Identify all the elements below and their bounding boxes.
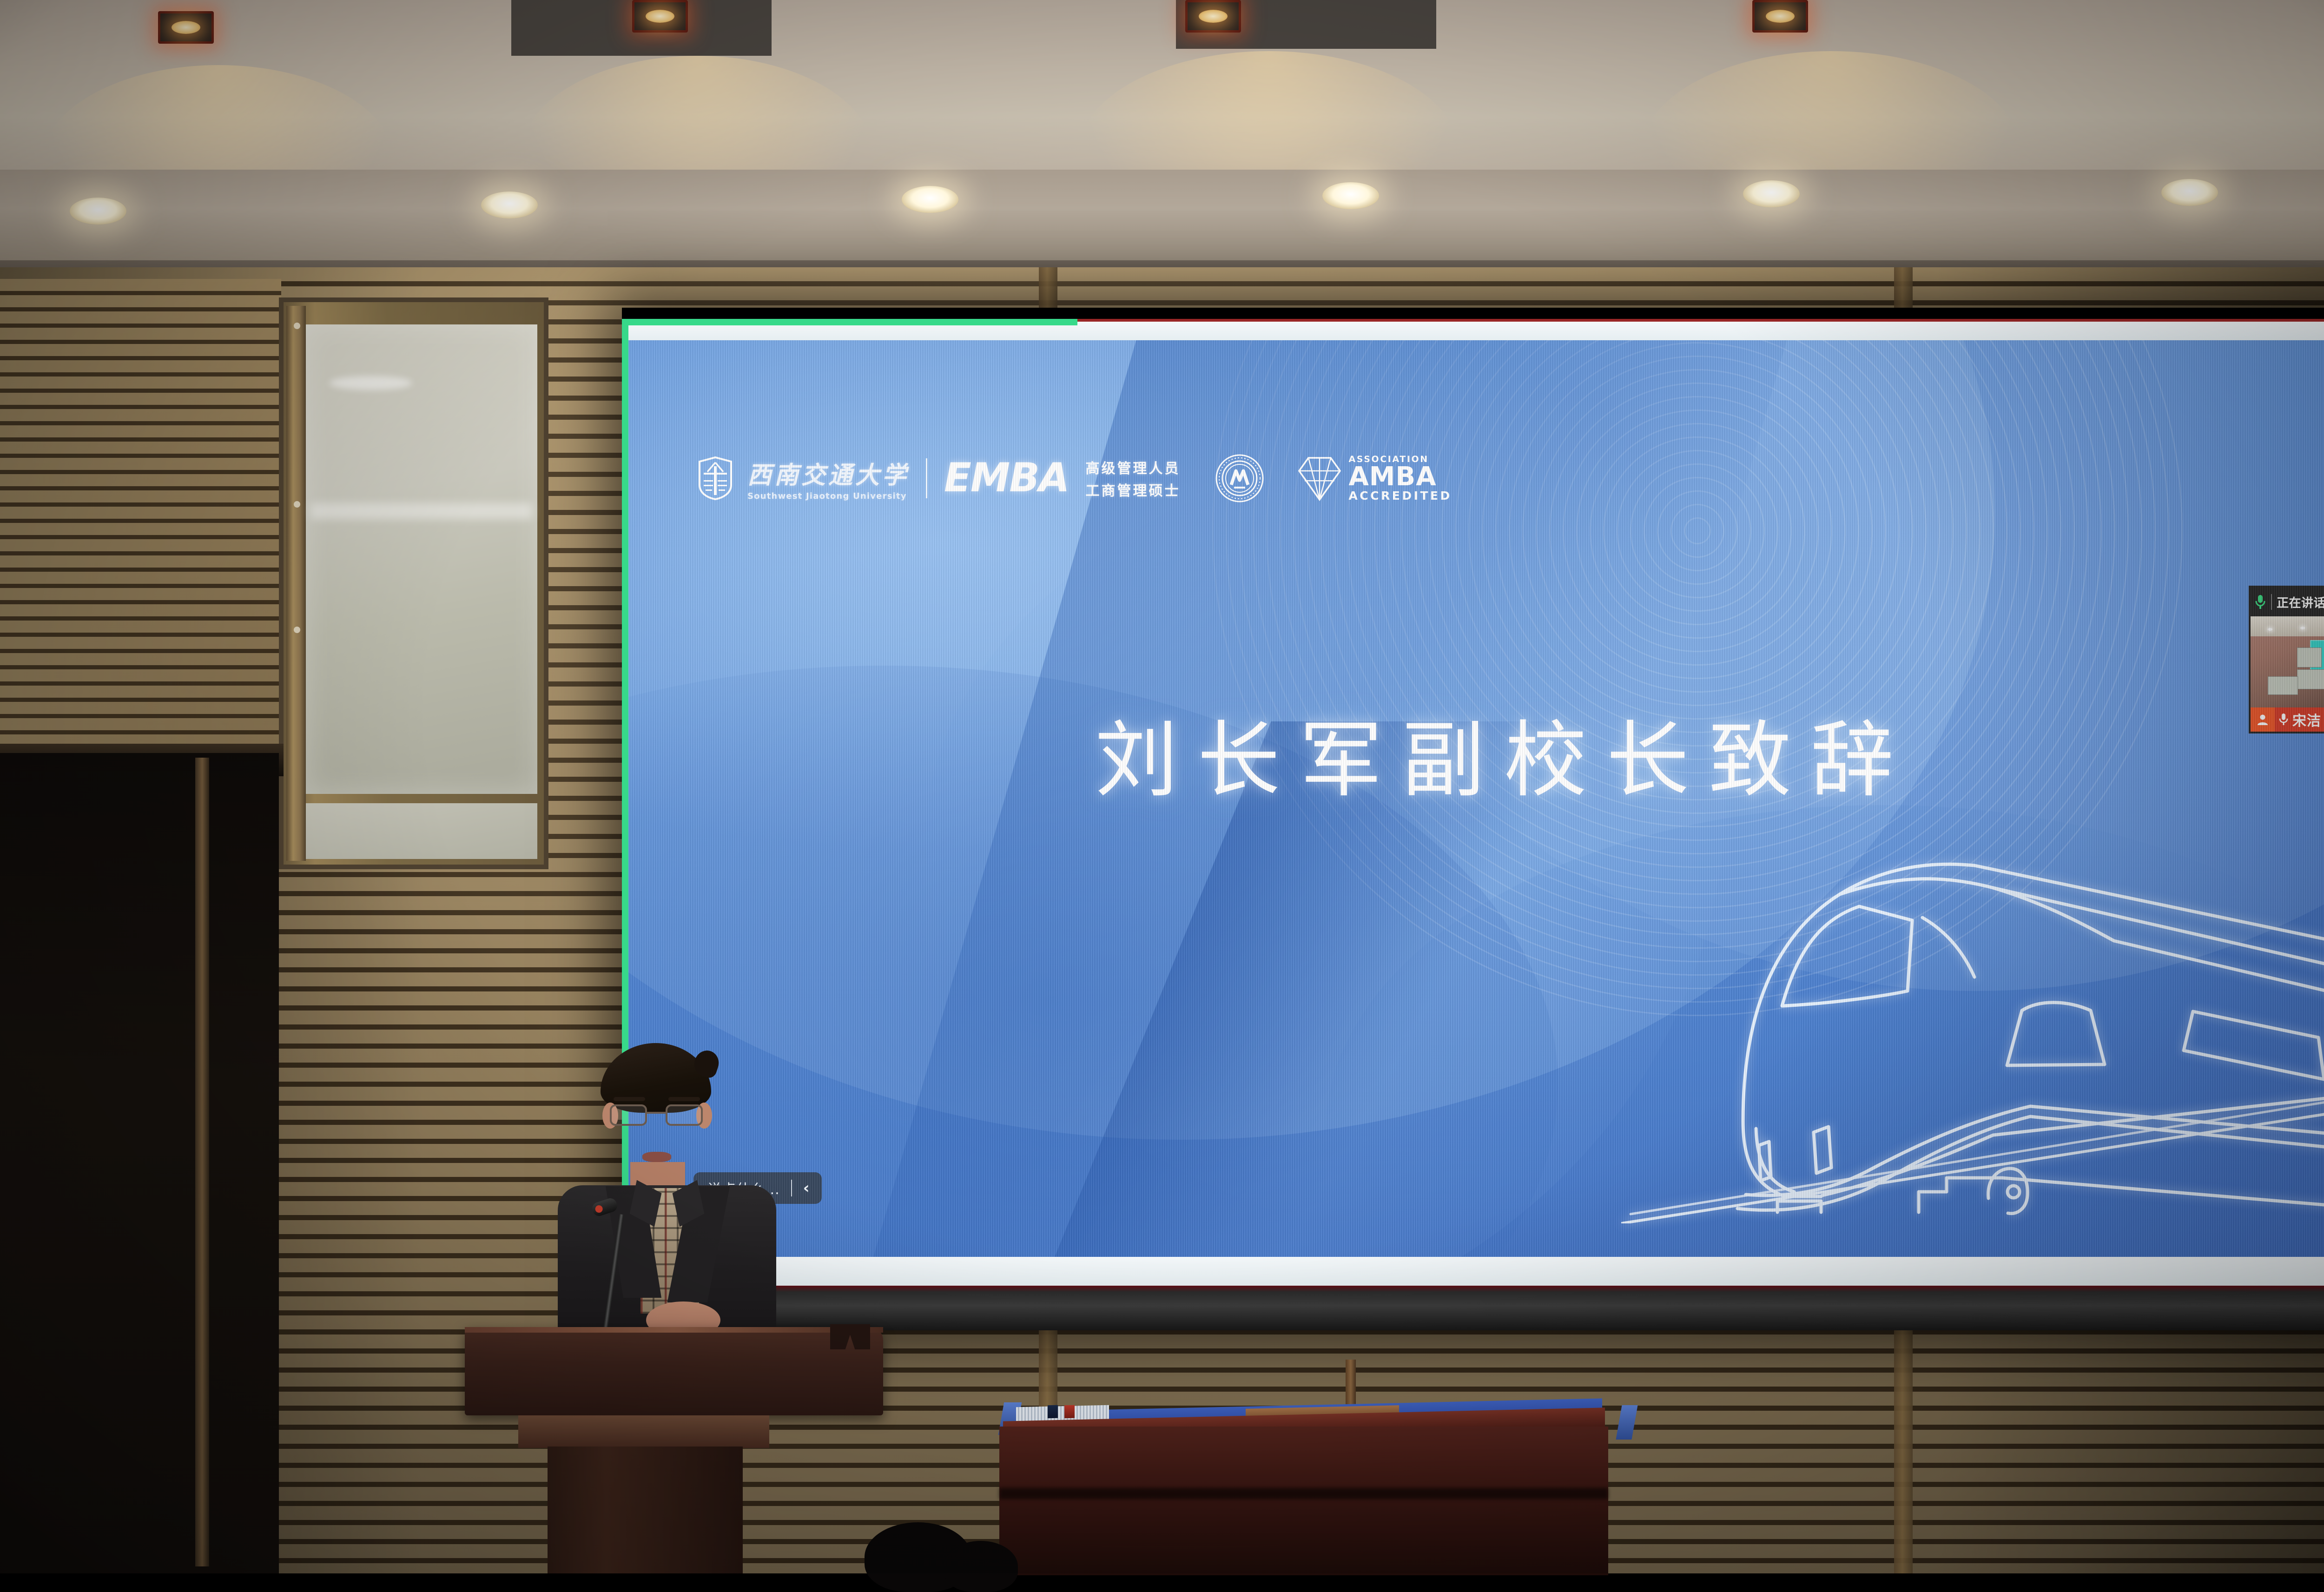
university-crest-icon [697,456,733,501]
podium-column [548,1447,743,1573]
screen-top-trim [1077,319,2324,322]
speaker-eyebrow [614,1097,645,1101]
emba-subtitle: 高级管理人员 工商管理硕士 [1085,457,1180,500]
ceiling-downlight-icon [1743,180,1800,207]
logo-divider [926,458,927,498]
whiteboard-frame [279,297,548,869]
emba-subtitle-line2: 工商管理硕士 [1085,479,1180,500]
ceiling-downlight-icon [70,198,126,225]
speaker-at-podium [493,1023,846,1573]
meeting-participant-panel[interactable]: 正在讲话: 宋 [2249,586,2324,733]
whiteboard-surface-lower [306,803,537,859]
screen-share-border-top [622,319,1077,325]
glasses-lens [666,1104,703,1126]
accreditation-seal-icon [1215,454,1264,502]
rail-dot [294,627,300,633]
person-icon [2251,707,2275,732]
console-shadow [999,1488,1608,1499]
participant-panel-header: 正在讲话: 宋 [2251,588,2324,616]
high-speed-train-illustration [1621,796,2324,1223]
podium-base-trim [518,1415,769,1448]
amba-diamond-icon [1296,454,1343,502]
rail-dot [294,501,300,508]
ceiling [0,0,2324,195]
ceiling-beam [0,170,2324,267]
microphone-icon [2254,594,2266,610]
glasses-icon [610,1104,703,1126]
speaker-mouth [642,1152,671,1162]
podium-notch [830,1324,870,1349]
projection-screen: 西南交通大学 Southwest Jiaotong University EMB… [622,308,2324,1330]
console-marker [1064,1405,1075,1418]
wall-slat-texture [0,279,281,758]
video-ceiling [2251,616,2324,636]
video-light [2300,627,2305,629]
participant-name: 宋洁 [2292,709,2321,730]
university-name-en: Southwest Jiaotong University [747,491,909,501]
speaking-status-label: 正在讲话: 宋 [2277,594,2324,611]
amba-wordmark: AMBA [1348,465,1452,489]
ceiling-downlight-icon [2161,179,2218,206]
participant-video-thumbnail[interactable] [2251,616,2324,707]
door-frame [195,758,209,1566]
presentation-slide: 西南交通大学 Southwest Jiaotong University EMB… [628,340,2324,1265]
video-table [2297,669,2324,689]
console-side-rail [1616,1405,1637,1440]
av-control-console [985,1378,1643,1573]
university-name: 西南交通大学 Southwest Jiaotong University [747,456,909,501]
university-name-cn: 西南交通大学 [747,456,909,490]
ceiling-spotlight-icon [1752,0,1808,33]
participant-name-bar: 宋洁 [2251,707,2324,732]
ceiling-downlight-icon [1322,182,1379,209]
ceiling-spotlight-icon [632,0,688,33]
slide-logo-row: 西南交通大学 Southwest Jiaotong University EMB… [697,454,1452,502]
podium-top [465,1327,883,1415]
microphone-icon [2278,713,2289,727]
audience-silhouette [944,1541,1018,1592]
speaker-eyebrow [668,1097,700,1101]
rail-dot [294,323,300,329]
left-side-wall [0,279,281,758]
whiteboard-side-rail [286,306,306,861]
emba-wordmark: EMBA [944,460,1069,496]
amba-accredited-label: ACCREDITED [1348,490,1452,502]
screen-bottom-edge [622,1257,2324,1286]
ceiling-downlight-icon [902,186,958,213]
video-table [2297,647,2322,667]
left-dark-alcove [0,753,279,1573]
video-table [2268,676,2298,694]
emba-subtitle-line1: 高级管理人员 [1085,457,1180,477]
slide-title: 刘长军副校长致辞 [628,694,2324,813]
amba-accreditation-logo: ASSOCIATION AMBA ACCREDITED [1296,454,1452,502]
glasses-lens [610,1104,647,1126]
screen-bezel [622,1286,2324,1330]
ceiling-spotlight-icon [158,11,214,44]
panel-divider [2271,594,2272,610]
console-body [999,1427,1608,1575]
ceiling-downlight-icon [481,192,538,218]
console-marker [1048,1405,1058,1418]
glasses-bridge [647,1112,666,1114]
whiteboard-surface [306,324,537,794]
amba-text-block: ASSOCIATION AMBA ACCREDITED [1348,455,1452,502]
lecture-hall-scene: 西南交通大学 Southwest Jiaotong University EMB… [0,0,2324,1573]
ceiling-spotlight-icon [1185,0,1241,33]
